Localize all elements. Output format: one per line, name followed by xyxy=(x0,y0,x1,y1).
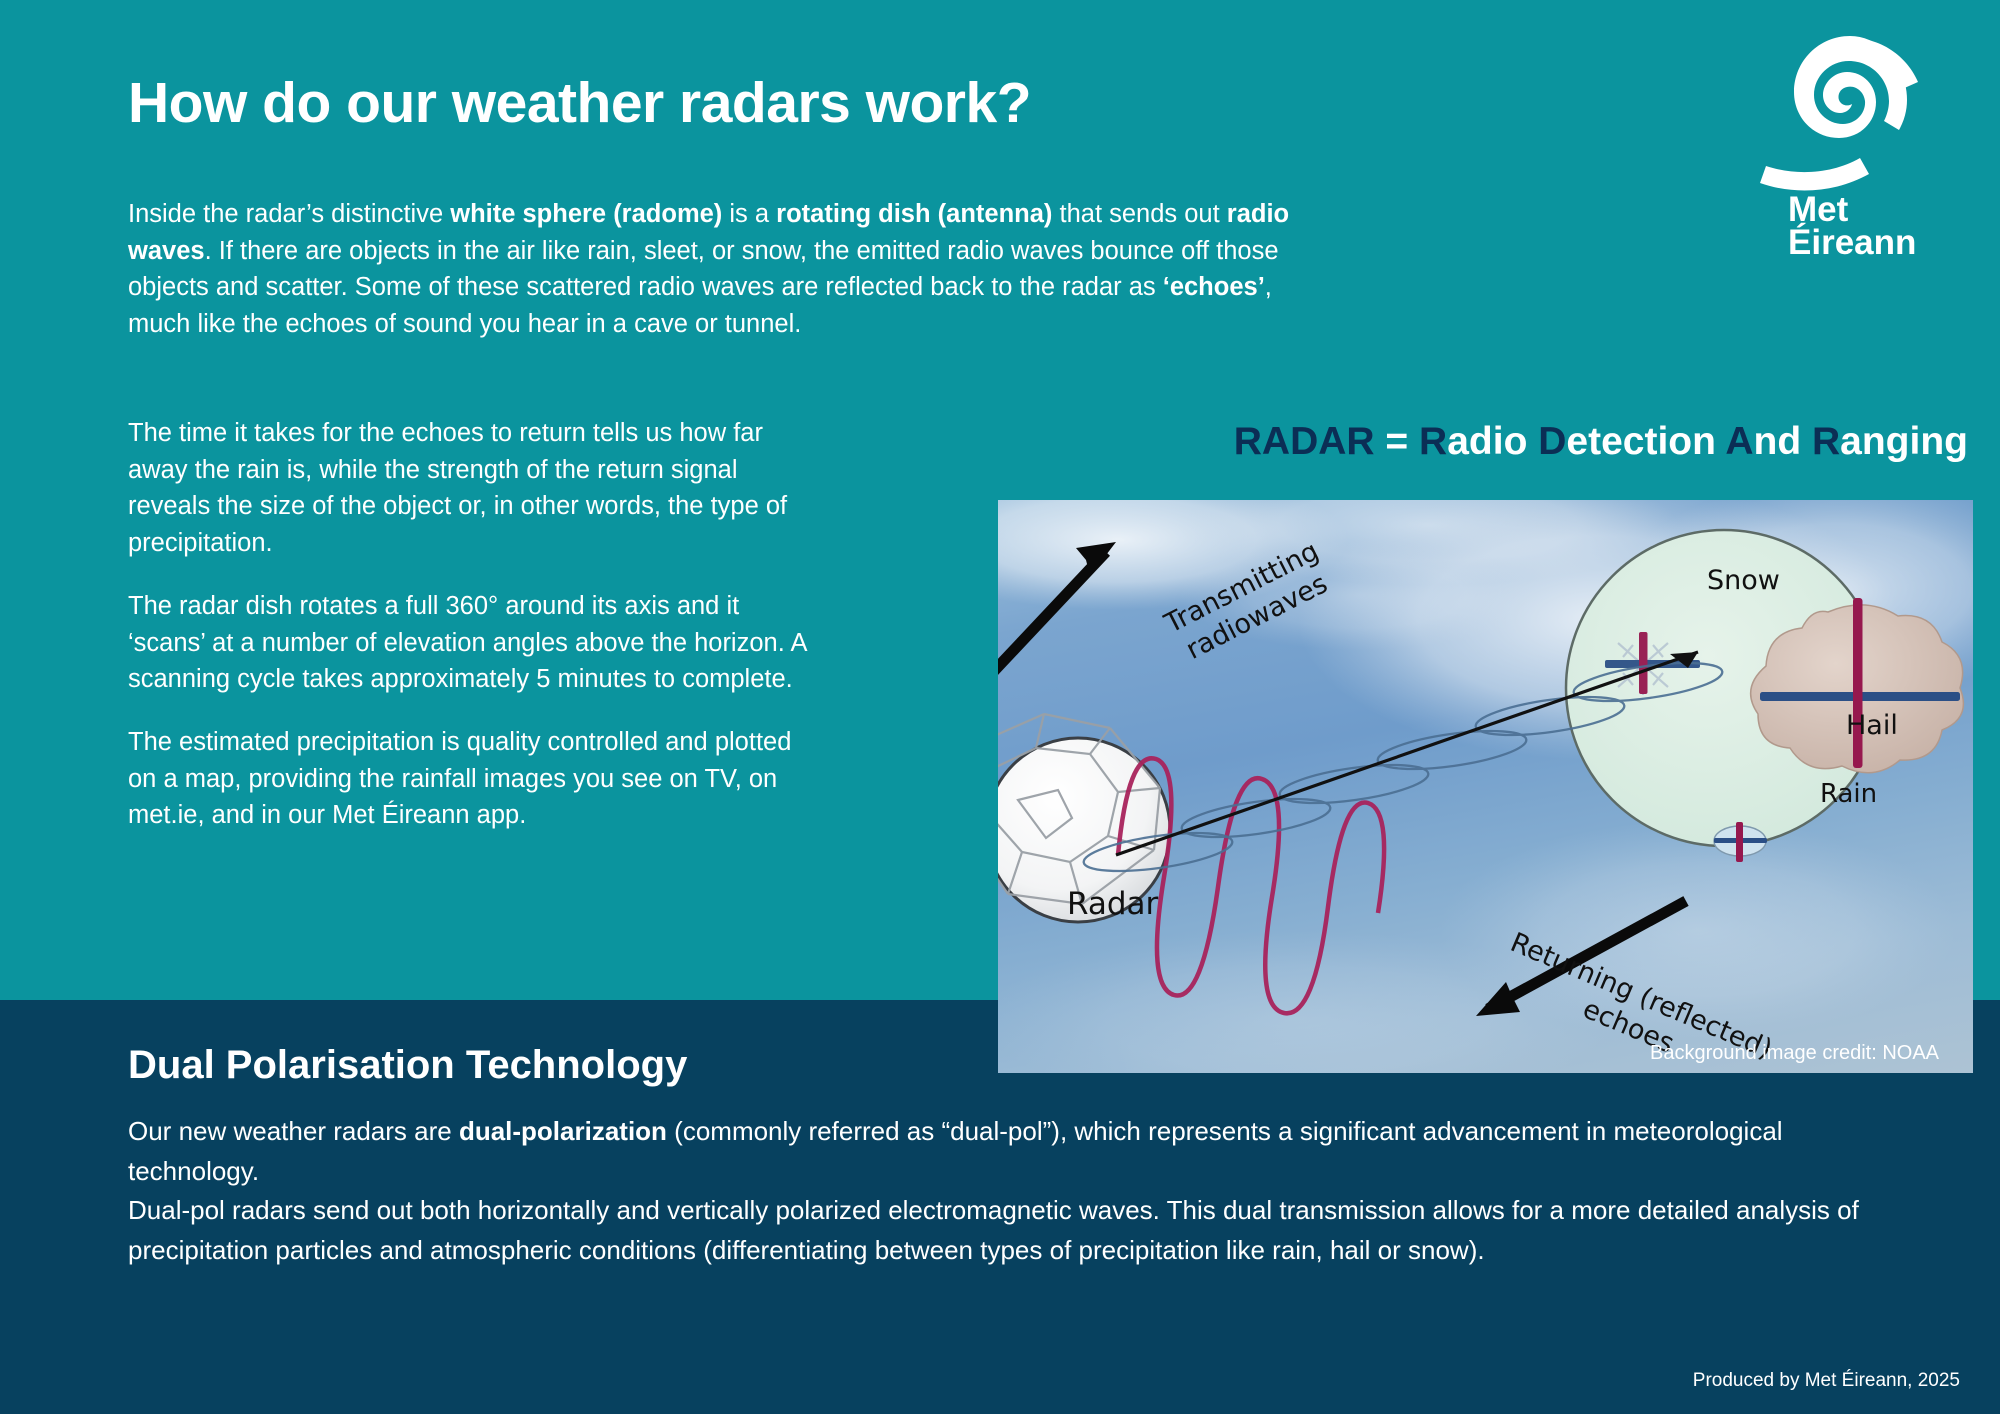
acronym-r1: R xyxy=(1419,420,1447,463)
left-column-text: The time it takes for the echoes to retu… xyxy=(128,415,808,834)
dp-text-1: Our new weather radars are xyxy=(128,1116,459,1146)
intro-bold-echoes: ‘echoes’ xyxy=(1163,273,1265,301)
left-paragraph-3: The estimated precipitation is quality c… xyxy=(128,724,808,834)
label-rain: Rain xyxy=(1820,779,1877,809)
acronym-rest1: adio xyxy=(1447,420,1527,463)
dual-pol-heading: Dual Polarisation Technology xyxy=(128,1043,687,1088)
acronym-rest4: anging xyxy=(1840,420,1968,463)
intro-text-3: that sends out xyxy=(1052,200,1226,228)
acronym-d: D xyxy=(1538,420,1566,463)
acronym-rest2: etection xyxy=(1566,420,1716,463)
radar-acronym-heading: RADAR = Radio Detection And Ranging xyxy=(1068,420,1968,464)
acronym-equals: = xyxy=(1385,420,1408,463)
met-eireann-logo: Met Éireann xyxy=(1740,28,1960,258)
label-snow: Snow xyxy=(1707,565,1780,596)
left-paragraph-2: The radar dish rotates a full 360° aroun… xyxy=(128,588,808,698)
dual-pol-body: Our new weather radars are dual-polariza… xyxy=(128,1112,1898,1270)
intro-text-4: . If there are objects in the air like r… xyxy=(128,237,1279,302)
label-hail: Hail xyxy=(1846,710,1898,741)
acronym-word: RADAR xyxy=(1234,420,1375,463)
acronym-a: A xyxy=(1725,420,1753,463)
logo-wordmark: Met Éireann xyxy=(1750,193,1960,260)
page-title: How do our weather radars work? xyxy=(128,70,1031,136)
intro-bold-antenna: rotating dish (antenna) xyxy=(776,200,1052,228)
logo-line-eireann: Éireann xyxy=(1788,226,1960,259)
logo-line-met: Met xyxy=(1788,193,1960,226)
image-credit: Background image credit: NOAA xyxy=(1650,1042,1939,1065)
dual-pol-paragraph-2: Dual-pol radars send out both horizontal… xyxy=(128,1191,1898,1270)
dp-bold-dual-polarization: dual-polarization xyxy=(459,1116,667,1146)
left-paragraph-1: The time it takes for the echoes to retu… xyxy=(128,415,808,562)
intro-paragraph: Inside the radar’s distinctive white sph… xyxy=(128,196,1308,343)
footer-credit: Produced by Met Éireann, 2025 xyxy=(1693,1370,1960,1392)
dual-pol-paragraph-1: Our new weather radars are dual-polariza… xyxy=(128,1112,1898,1191)
acronym-rest3: nd xyxy=(1754,420,1802,463)
label-radar: Radar xyxy=(1067,886,1158,922)
poster-root: How do our weather radars work? Met Éire… xyxy=(0,0,2000,1414)
intro-bold-radome: white sphere (radome) xyxy=(450,200,722,228)
spiral-logo-icon xyxy=(1758,28,1938,198)
intro-text-1: Inside the radar’s distinctive xyxy=(128,200,450,228)
acronym-r2: R xyxy=(1812,420,1840,463)
intro-text-2: is a xyxy=(722,200,776,228)
